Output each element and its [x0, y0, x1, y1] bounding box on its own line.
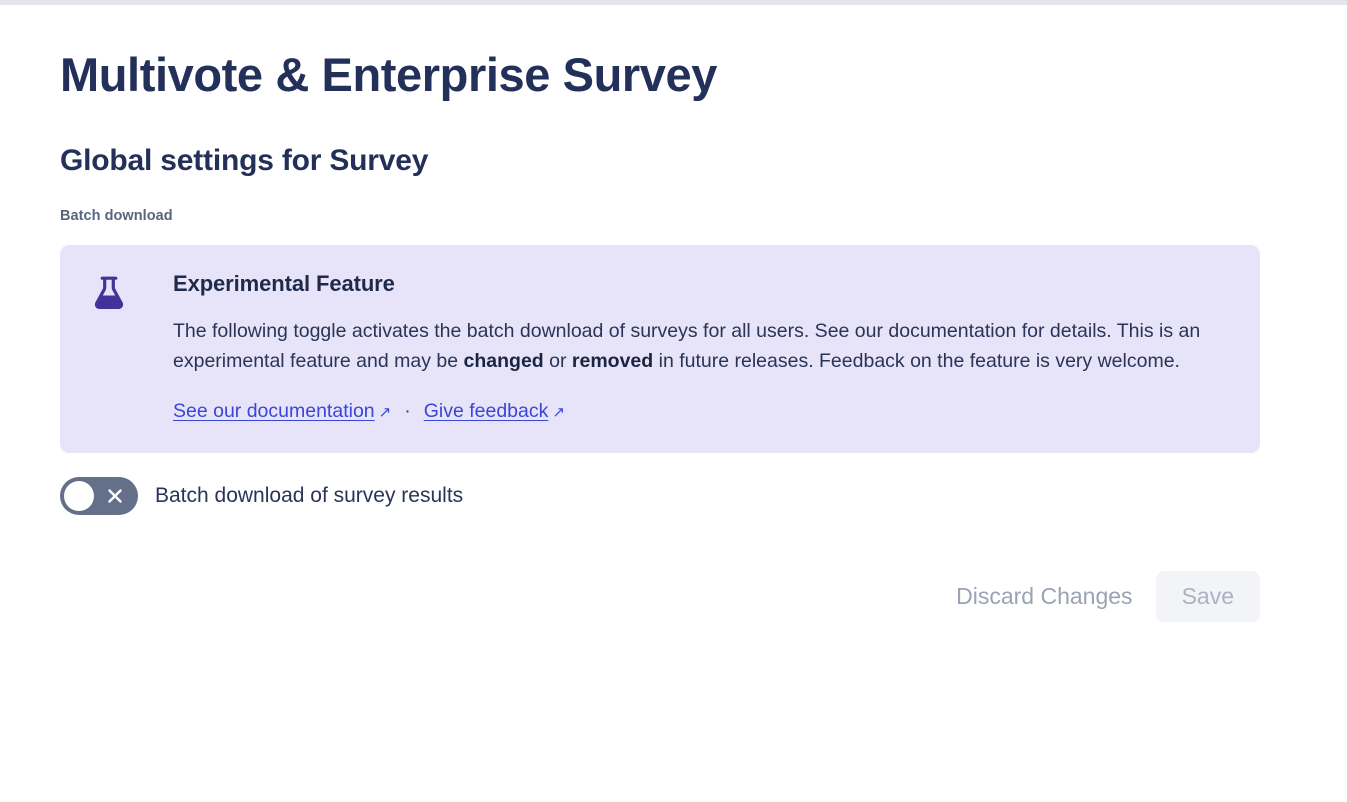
documentation-link-label: See our documentation [173, 400, 375, 422]
page-title: Multivote & Enterprise Survey [60, 35, 1287, 101]
toggle-knob [64, 481, 94, 511]
callout-text-bold-changed: changed [464, 350, 544, 372]
callout-body: Experimental Feature The following toggl… [128, 271, 1230, 422]
callout-title: Experimental Feature [173, 271, 1230, 297]
batch-download-toggle-row: Batch download of survey results [60, 453, 1287, 515]
batch-download-toggle[interactable] [60, 477, 138, 515]
feedback-link-label: Give feedback [424, 400, 549, 422]
external-link-icon: ↗ [548, 403, 565, 421]
feedback-link[interactable]: Give feedback↗ [424, 400, 565, 423]
experimental-feature-callout: Experimental Feature The following toggl… [60, 245, 1260, 452]
discard-changes-button[interactable]: Discard Changes [938, 571, 1150, 622]
callout-text-part2: or [544, 350, 572, 372]
callout-text: The following toggle activates the batch… [173, 297, 1223, 376]
link-separator: · [391, 400, 424, 423]
form-actions: Discard Changes Save [60, 515, 1287, 622]
documentation-link[interactable]: See our documentation↗ [173, 400, 391, 423]
save-button[interactable]: Save [1156, 571, 1260, 622]
callout-text-part3: in future releases. Feedback on the feat… [653, 350, 1180, 372]
close-icon [105, 486, 125, 506]
callout-links: See our documentation↗ · Give feedback↗ [173, 377, 1230, 423]
callout-text-bold-removed: removed [572, 350, 653, 372]
external-link-icon: ↗ [375, 403, 392, 421]
section-title: Global settings for Survey [60, 101, 1287, 179]
flask-icon [94, 271, 128, 310]
batch-download-label: Batch download [60, 178, 1287, 224]
settings-page: Multivote & Enterprise Survey Global set… [0, 5, 1347, 802]
toggle-label: Batch download of survey results [155, 484, 463, 508]
